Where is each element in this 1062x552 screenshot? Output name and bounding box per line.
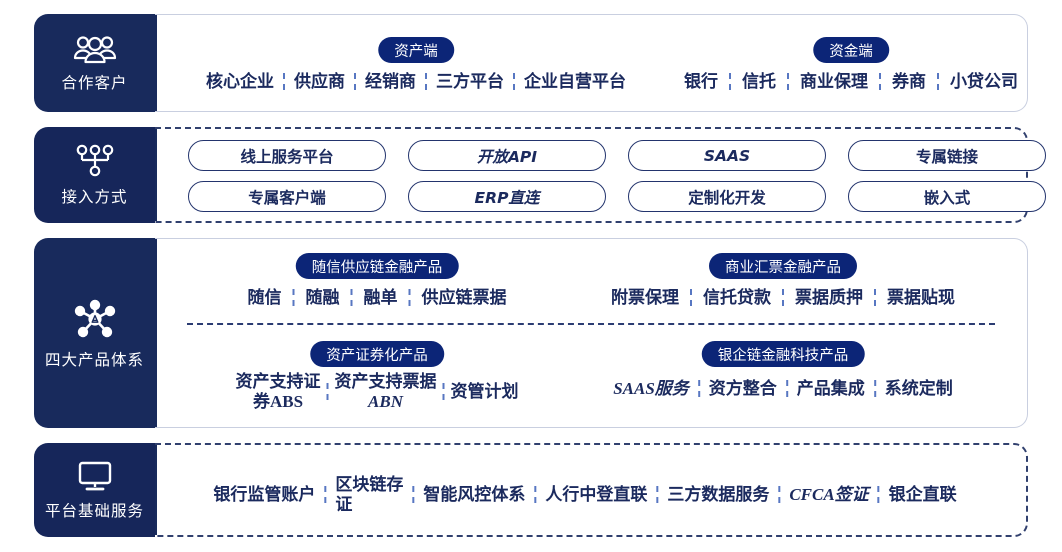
item-strip-suixin-supply-chain-finance: 随信 随融 融单 供应链票据	[237, 288, 518, 308]
access-pill-saas[interactable]: SAAS	[628, 140, 826, 171]
chip-asset-side[interactable]: 资产端	[378, 37, 454, 63]
list-item[interactable]: 产品集成	[788, 379, 874, 399]
list-item[interactable]: 资产支持证 券ABS	[230, 372, 327, 411]
list-item[interactable]: 随融	[295, 288, 351, 308]
list-item[interactable]: 资管计划	[445, 382, 525, 402]
access-pill-custom-development[interactable]: 定制化开发	[628, 181, 826, 212]
list-item[interactable]: SAAS服务	[604, 379, 698, 399]
row-four-product-systems: 四大产品体系 随信供应链金融产品 随信 随融 融单 供应链票据 商业汇票金融产品…	[34, 238, 1028, 428]
access-pill-embedded[interactable]: 嵌入式	[848, 181, 1046, 212]
list-item[interactable]: 券商	[881, 72, 937, 92]
item-strip-commercial-draft-finance: 附票保理 信托贷款 票据质押 票据贴现	[600, 288, 966, 308]
list-item[interactable]: CFCA签证	[780, 485, 877, 505]
access-pill-dedicated-client[interactable]: 专属客户端	[188, 181, 386, 212]
section-divider	[187, 323, 995, 325]
row-label-text: 平台基础服务	[45, 499, 144, 521]
row-label-text: 合作客户	[61, 71, 127, 93]
row-body-access-methods: 线上服务平台 开放API SAAS 专属链接 专属客户端 ERP直连 定制化开发…	[155, 127, 1028, 223]
list-item[interactable]: 系统定制	[876, 379, 962, 399]
list-item[interactable]: 票据贴现	[876, 288, 966, 308]
list-item[interactable]: 区块链存 证	[326, 475, 412, 514]
row-label-platform-basic-services: 平台基础服务	[34, 443, 155, 537]
people-group-icon	[73, 34, 117, 64]
chip-asset-securitization[interactable]: 资产证券化产品	[310, 341, 444, 367]
list-item[interactable]: 企业自营平台	[515, 72, 635, 92]
list-item[interactable]: 融单	[353, 288, 409, 308]
monitor-desktop-icon	[76, 460, 114, 492]
row-body-partner-customers: 资产端 核心企业 供应商 经销商 三方平台 企业自营平台 资金端 银行 信托 商…	[155, 14, 1028, 112]
access-pill-online-service-platform[interactable]: 线上服务平台	[188, 140, 386, 171]
list-item[interactable]: 商业保理	[789, 72, 879, 92]
access-pill-erp-direct[interactable]: ERP直连	[408, 181, 606, 212]
network-hierarchy-icon	[75, 144, 115, 178]
row-partner-customers: 合作客户 资产端 核心企业 供应商 经销商 三方平台 企业自营平台 资金端 银行	[34, 14, 1028, 112]
row-label-access-methods: 接入方式	[34, 127, 155, 223]
list-item[interactable]: 三方数据服务	[658, 485, 778, 505]
list-item[interactable]: 银企直联	[880, 485, 966, 505]
list-item[interactable]: 资产支持票据 ABN	[329, 372, 443, 411]
item-strip-platform-basic-services: 银行监管账户 区块链存 证 智能风控体系 人行中登直联 三方数据服务	[204, 475, 965, 514]
list-item[interactable]: 人行中登直联	[536, 485, 656, 505]
chip-suixin-supply-chain-finance[interactable]: 随信供应链金融产品	[296, 253, 459, 279]
row-label-partner-customers: 合作客户	[34, 14, 155, 112]
item-strip-bank-enterprise-chain-fintech: SAAS服务 资方整合 产品集成 系统定制	[604, 379, 962, 399]
row-label-four-product-systems: 四大产品体系	[34, 238, 155, 428]
list-item[interactable]: 三方平台	[427, 72, 513, 92]
architecture-diagram: 合作客户 资产端 核心企业 供应商 经销商 三方平台 企业自营平台 资金端 银行	[0, 0, 1062, 552]
item-strip-funding-side: 银行 信托 商业保理 券商 小贷公司	[673, 72, 1029, 92]
chip-commercial-draft-finance[interactable]: 商业汇票金融产品	[709, 253, 857, 279]
chip-bank-enterprise-chain-fintech[interactable]: 银企链金融科技产品	[702, 341, 865, 367]
list-item[interactable]: 信托	[731, 72, 787, 92]
list-item[interactable]: 票据质押	[784, 288, 874, 308]
list-item[interactable]: 小贷公司	[939, 72, 1029, 92]
access-pill-open-api[interactable]: 开放API	[408, 140, 606, 171]
row-label-text: 四大产品体系	[45, 348, 144, 370]
item-strip-asset-securitization: 资产支持证 券ABS 资产支持票据 ABN 资管计划	[230, 372, 525, 411]
list-item[interactable]: 附票保理	[600, 288, 690, 308]
row-label-text: 接入方式	[61, 185, 127, 207]
list-item[interactable]: 银行	[673, 72, 729, 92]
list-item[interactable]: 核心企业	[197, 72, 283, 92]
list-item[interactable]: 经销商	[356, 72, 425, 92]
row-body-four-product-systems: 随信供应链金融产品 随信 随融 融单 供应链票据 商业汇票金融产品 附票保理 信…	[155, 238, 1028, 428]
item-strip-asset-side: 核心企业 供应商 经销商 三方平台 企业自营平台	[197, 72, 635, 92]
row-access-methods: 接入方式 线上服务平台 开放API SAAS 专属链接 专属客户端 ERP直连 …	[34, 127, 1028, 223]
row-body-platform-basic-services: 银行监管账户 区块链存 证 智能风控体系 人行中登直联 三方数据服务	[155, 443, 1028, 537]
list-item[interactable]: 供应链票据	[411, 288, 518, 308]
list-item[interactable]: 智能风控体系	[414, 485, 534, 505]
list-item[interactable]: 供应商	[285, 72, 354, 92]
list-item[interactable]: 资方整合	[700, 379, 786, 399]
hub-star-network-icon	[71, 297, 119, 341]
chip-funding-side[interactable]: 资金端	[813, 37, 889, 63]
list-item[interactable]: 银行监管账户	[204, 485, 324, 505]
access-pill-dedicated-link[interactable]: 专属链接	[848, 140, 1046, 171]
row-platform-basic-services: 平台基础服务 银行监管账户 区块链存 证 智能风控体系 人行中登直联	[34, 443, 1028, 537]
list-item[interactable]: 随信	[237, 288, 293, 308]
list-item[interactable]: 信托贷款	[692, 288, 782, 308]
